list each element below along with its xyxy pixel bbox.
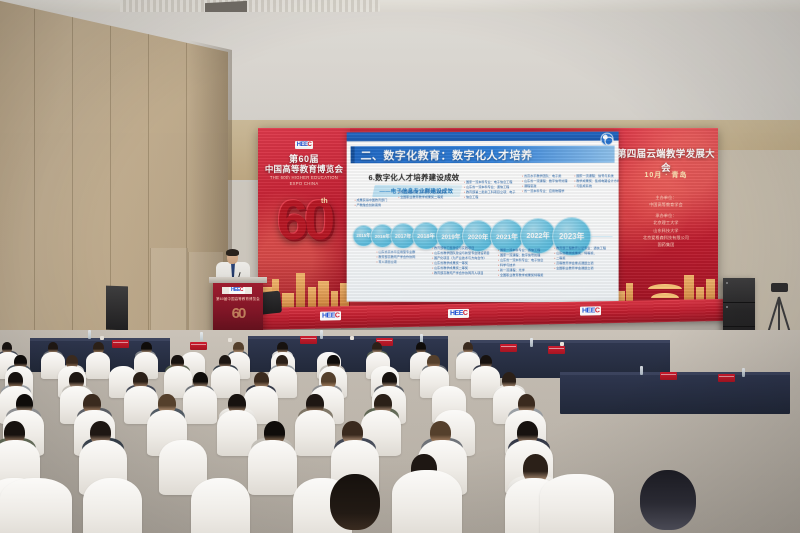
- timeline-note-line: 信息工程: [464, 195, 515, 200]
- timeline-note-line: 教育部高教司产学合作协同育人项目: [432, 271, 490, 276]
- timeline-note-group: 教育部工程教育认证专业：通信工程山东省教学成果奖：特等奖、二等奖高等教育学会重点…: [554, 246, 606, 271]
- cloud-teaching-right-banner: 第四届云端教学发展大会 10月 · 青岛 主办单位：中国高等教育学会承办单位：北…: [614, 128, 718, 313]
- slide-top-bar: [347, 132, 619, 142]
- timeline-note-line: 全国职业教育教学成果奖二等奖: [398, 195, 446, 200]
- presenter-hair: [226, 249, 239, 256]
- timeline-note-group: 国家一流课程：信号与系统教学成果奖：集成电路设计方向与集成系统: [574, 174, 618, 189]
- podium: HEEC 第60届中国高等教育博览会 60: [213, 281, 263, 333]
- organizer-line: 中国高等教育学会: [614, 201, 718, 208]
- wall-panel-seam: [34, 9, 35, 330]
- led-video-wall: HEEC 第60届 中国高等教育博览会 THE 60th HIGHER EDUC…: [258, 128, 718, 313]
- timeline-note-group: 成果获得中国教育部门产教融合创新案例: [355, 198, 388, 208]
- water-bottle: [640, 366, 643, 375]
- timeline-note-line: 与集成系统: [574, 184, 618, 189]
- audience-chair: [183, 386, 217, 424]
- water-bottle: [88, 330, 91, 339]
- conference-hall-photo: HEEC 第60届 中国高等教育博览会 THE 60th HIGHER EDUC…: [0, 0, 800, 533]
- timeline-note-group: 教育部新工科建设与实践项目山东省教学团队建设与新型专业建设项目国产化项目（为产业…: [432, 246, 490, 276]
- wall-panel-seam: [148, 34, 149, 330]
- timeline-note-group: 省高水平教学团队：电子类山东省一流课程：数字信号处理课程思政省一流本科专业：应用…: [522, 174, 567, 194]
- timeline-note-line: 产教融合创新案例: [355, 203, 388, 208]
- coffee-cup: [560, 342, 564, 346]
- conference-organizers: 主办单位：中国高等教育学会承办单位：北京理工大学山东科技大学北京爱格森科技有限公…: [614, 194, 718, 249]
- expo-ordinal: th: [321, 198, 328, 205]
- stage-heec-logo-1: HEEC: [320, 311, 341, 320]
- timeline-note-group: 山东省高水平应用型专业群教育部高教司产学合作协同育人项目立项: [376, 250, 415, 265]
- timeline-note-line: 全国职业教育学会课题立项: [554, 266, 606, 271]
- audience-chair: [0, 478, 72, 533]
- name-card: [300, 336, 317, 344]
- organizer-line: 主办单位：: [614, 194, 718, 201]
- timeline-note-group: 国家一流本科专业：电子信息工程山东省一流本科专业：通信工程教育部第二批新工科项目…: [464, 180, 515, 200]
- presentation-slide: 二、数字化教育：数字化人才培养 6.数字化人才培养建设成效 ——电子信息专业群建…: [347, 132, 619, 303]
- timeline-note-group: 国家一流本科专业：通信工程国家一流课程：数字信号处理山东省一流本科专业：电子信息…: [498, 248, 543, 278]
- name-card: [718, 374, 735, 382]
- camera-head-icon: [771, 283, 788, 292]
- conference-date-location: 10月 · 青岛: [614, 170, 718, 180]
- timeline-note-group: 教育部首批新工科研究与实践项目全国职业教育教学成果奖二等奖: [398, 190, 446, 200]
- side-speaker-cabinet: [106, 286, 128, 331]
- water-bottle: [530, 338, 533, 347]
- organizer-line: 国药集团: [614, 241, 718, 248]
- audience-chair: [392, 470, 462, 533]
- audience-person-head: [330, 474, 380, 530]
- water-bottle: [742, 368, 745, 377]
- expo-left-banner: HEEC 第60届 中国高等教育博览会 THE 60th HIGHER EDUC…: [258, 128, 350, 313]
- table-cloth: [470, 340, 670, 343]
- slide-header-title: 二、数字化教育：数字化人才培养: [361, 146, 533, 162]
- organizer-line: 北京理工大学: [614, 219, 718, 226]
- water-bottle: [320, 330, 323, 339]
- timeline-note-line: 育人项目立项: [376, 260, 415, 265]
- name-card: [112, 340, 129, 348]
- name-card: [500, 344, 517, 352]
- audience-person-head-cap: [640, 470, 696, 530]
- audience-chair: [295, 410, 335, 456]
- timeline-note-line: 省一流本科专业：应用物理学: [522, 189, 567, 194]
- audience-chair: [83, 478, 142, 533]
- audience-chair: [248, 440, 296, 495]
- organizer-line: 北京爱格森科技有限公司: [614, 234, 718, 241]
- side-door-left: [150, 248, 188, 332]
- name-card: [660, 372, 677, 380]
- slide-header-band: 二、数字化教育：数字化人才培养: [351, 146, 615, 164]
- stage-heec-logo-2: HEEC: [448, 309, 469, 318]
- organizer-line: 承办单位：: [614, 212, 718, 219]
- name-card: [548, 346, 565, 354]
- podium-top-surface: [209, 277, 267, 283]
- podium-number-graphic: 60: [213, 305, 263, 322]
- university-emblem-icon: [600, 133, 613, 146]
- expo-name-cn: 中国高等教育博览会: [258, 163, 350, 175]
- slide-section-title: 6.数字化人才培养建设成效: [368, 172, 459, 183]
- coffee-cup: [350, 336, 354, 340]
- audience-chair: [540, 474, 614, 533]
- wall-panel-seam: [110, 26, 111, 330]
- coffee-cup: [228, 338, 232, 342]
- expo-big-number: 60: [262, 188, 346, 250]
- wall-panel-seam: [72, 17, 73, 330]
- coffee-cup: [100, 336, 104, 340]
- audience-chair: [86, 352, 110, 379]
- table-cloth: [248, 336, 448, 339]
- stage-heec-logo-3: HEEC: [580, 306, 601, 315]
- audience-chair: [191, 478, 250, 533]
- podium-heec-logo: HEEC: [222, 287, 252, 294]
- timeline-note-line: 全国职业教育教学成果奖特等奖: [498, 273, 543, 278]
- heec-logo-left: HEEC: [284, 140, 324, 149]
- podium-caption: 第60届中国高等教育博览会: [213, 296, 263, 301]
- water-bottle: [200, 332, 203, 341]
- organizer-line: 山东科技大学: [614, 227, 718, 234]
- name-card: [190, 342, 207, 350]
